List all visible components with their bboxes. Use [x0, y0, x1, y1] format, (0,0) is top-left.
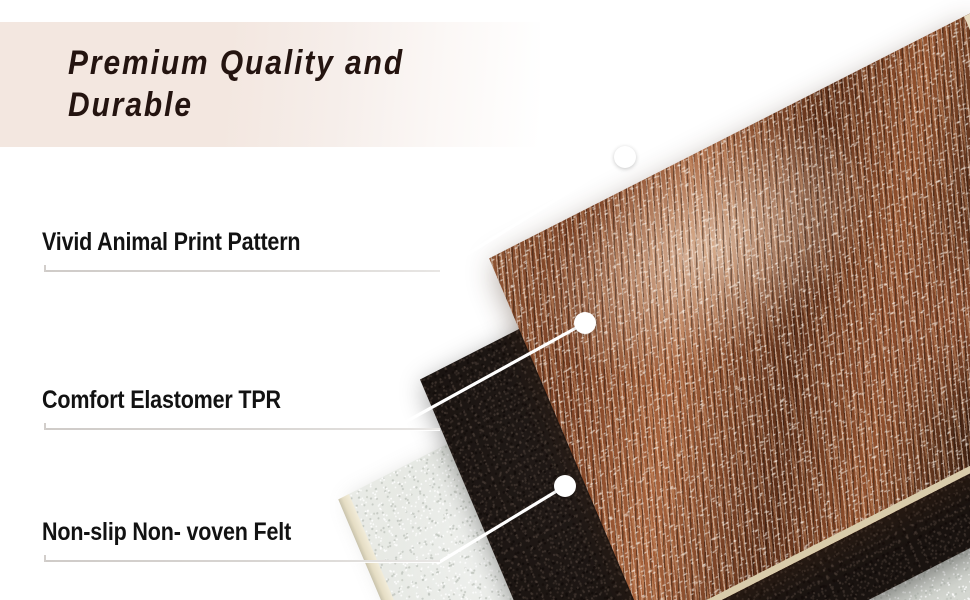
feature-label-elastomer-tpr: Comfort Elastomer TPR [42, 386, 386, 415]
feature-item-nonwoven-felt: Non-slip Non- voven Felt [42, 518, 442, 547]
infographic-canvas: Premium Quality and Durable Vivid Animal… [0, 0, 970, 600]
callout-pin-nonwoven-felt[interactable] [554, 475, 576, 497]
heading-banner: Premium Quality and Durable [0, 22, 540, 147]
feature-rule-elastomer-tpr [44, 428, 440, 430]
page-title: Premium Quality and Durable [68, 43, 404, 126]
feature-label-nonwoven-felt: Non-slip Non- voven Felt [42, 518, 386, 547]
feature-rule-nonwoven-felt [44, 560, 440, 562]
feature-label-animal-print: Vivid Animal Print Pattern [42, 228, 386, 257]
feature-item-animal-print: Vivid Animal Print Pattern [42, 228, 442, 257]
callout-pin-elastomer-tpr[interactable] [574, 312, 596, 334]
feature-rule-animal-print [44, 270, 440, 272]
feature-item-elastomer-tpr: Comfort Elastomer TPR [42, 386, 442, 415]
callout-pin-animal-print[interactable] [614, 146, 636, 168]
